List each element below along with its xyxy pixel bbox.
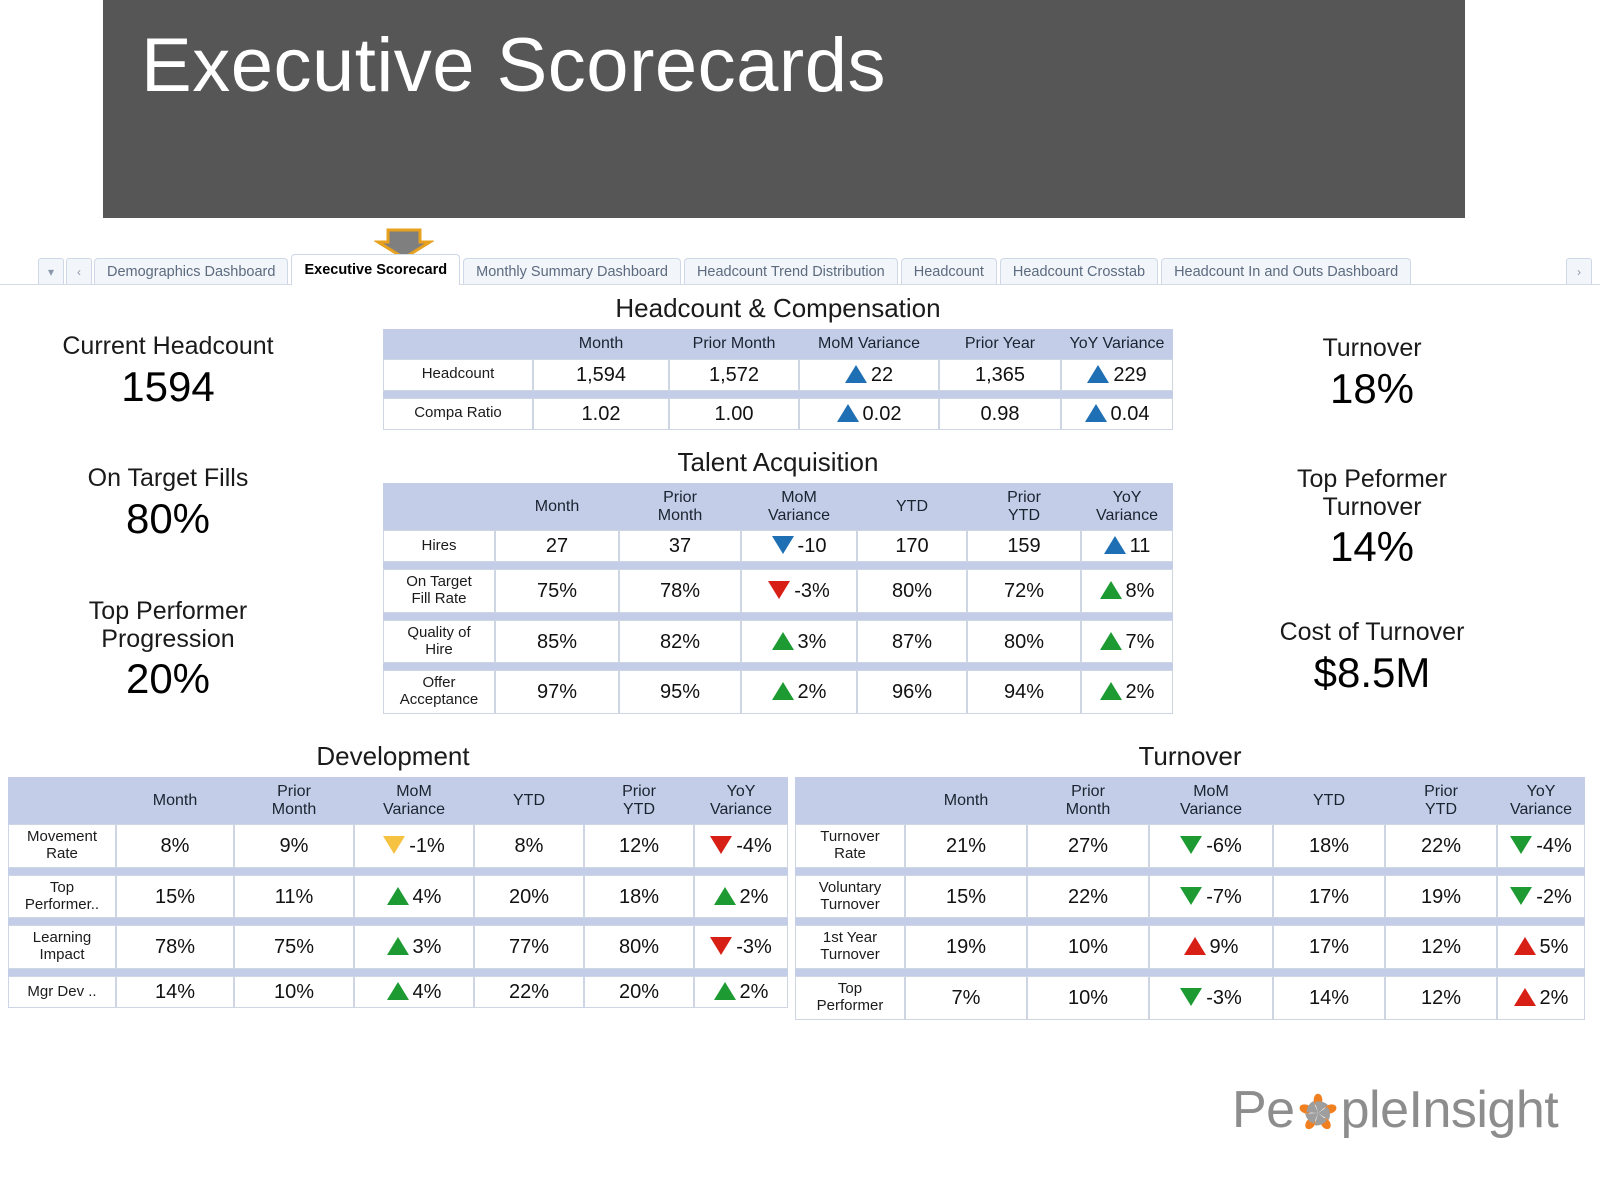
col-ytd: YTD <box>857 483 967 530</box>
triangle-up-icon <box>1100 632 1122 650</box>
row-label: Mgr Dev .. <box>8 976 116 1008</box>
cell-mom-variance: 3% <box>741 620 857 664</box>
col-mom-variance: MoMVariance <box>1149 777 1273 824</box>
kpi-cost-of-turnover-value: $8.5M <box>1222 649 1522 697</box>
table-row: OfferAcceptance97%95%2%96%94%2% <box>383 670 1173 714</box>
cell-ytd: 96% <box>857 670 967 714</box>
kpi-turnover-value: 18% <box>1222 365 1522 413</box>
col-rowlabel <box>383 483 495 530</box>
table-body: TurnoverRate21%27%-6%18%22%-4%VoluntaryT… <box>795 824 1585 1019</box>
triangle-down-icon <box>1180 988 1202 1006</box>
table-row: TurnoverRate21%27%-6%18%22%-4% <box>795 824 1585 868</box>
triangle-down-icon <box>1180 887 1202 905</box>
cell-prior-month: 10% <box>1027 925 1149 969</box>
cell-mom-variance: 2% <box>741 670 857 714</box>
triangle-down-icon <box>383 836 405 854</box>
tab-headcount-trend-distribution[interactable]: Headcount Trend Distribution <box>684 258 898 285</box>
cell-prior-ytd: 80% <box>967 620 1081 664</box>
cell-yoy-variance: 2% <box>694 875 788 919</box>
row-label: VoluntaryTurnover <box>795 875 905 919</box>
cell-prior-ytd: 22% <box>1385 824 1497 868</box>
cell-month: 14% <box>116 976 234 1008</box>
cell-ytd: 18% <box>1273 824 1385 868</box>
cell-ytd: 14% <box>1273 976 1385 1020</box>
section-title-turnover: Turnover <box>795 741 1585 772</box>
table-row: On TargetFill Rate75%78%-3%80%72%8% <box>383 569 1173 613</box>
cell-yoy-variance: -4% <box>1497 824 1585 868</box>
kpi-turnover: Turnover 18% <box>1222 335 1522 413</box>
triangle-up-icon <box>714 887 736 905</box>
cell-ytd: 170 <box>857 530 967 562</box>
table-development: Month PriorMonth MoMVariance YTD PriorYT… <box>8 777 788 1008</box>
cell-mom-variance: 4% <box>354 875 474 919</box>
kpi-top-performer-turnover: Top Peformer Turnover 14% <box>1222 466 1522 571</box>
kpi-top-performer-turnover-label-line1: Top Peformer <box>1222 466 1522 494</box>
row-spacer <box>795 868 1585 875</box>
triangle-up-icon <box>387 937 409 955</box>
col-month: Month <box>116 777 234 824</box>
col-month: Month <box>495 483 619 530</box>
triangle-down-icon <box>710 937 732 955</box>
cell-prior-month: 75% <box>234 925 354 969</box>
cell-prior-ytd: 12% <box>1385 925 1497 969</box>
cell-prior-month: 11% <box>234 875 354 919</box>
cell-month: 78% <box>116 925 234 969</box>
triangle-down-icon <box>768 581 790 599</box>
cell-yoy-variance: 229 <box>1061 359 1173 391</box>
kpi-top-performer-progression: Top Performer Progression 20% <box>18 598 318 703</box>
kpi-top-performer-turnover-label-line2: Turnover <box>1222 494 1522 522</box>
row-label: TopPerformer <box>795 976 905 1020</box>
cell-mom-variance: 3% <box>354 925 474 969</box>
row-label: OfferAcceptance <box>383 670 495 714</box>
cell-prior-ytd: 159 <box>967 530 1081 562</box>
table-header-row: Month PriorMonth MoMVariance YTD PriorYT… <box>383 483 1173 530</box>
cell-prior-ytd: 94% <box>967 670 1081 714</box>
col-yoy-variance: YoYVariance <box>1081 483 1173 530</box>
row-spacer <box>8 969 788 976</box>
cell-month: 1,594 <box>533 359 669 391</box>
col-prior-ytd: PriorYTD <box>1385 777 1497 824</box>
table-turnover: Month PriorMonth MoMVariance YTD PriorYT… <box>795 777 1585 1020</box>
col-mom-variance: MoMVariance <box>354 777 474 824</box>
triangle-up-icon <box>772 632 794 650</box>
col-mom-variance: MoMVariance <box>741 483 857 530</box>
tab-demographics-dashboard[interactable]: Demographics Dashboard <box>94 258 288 285</box>
col-prior-year: Prior Year <box>939 329 1061 359</box>
table-row: Headcount 1,594 1,572 22 1,365 229 <box>383 359 1173 391</box>
triangle-down-icon <box>1510 836 1532 854</box>
table-row: VoluntaryTurnover15%22%-7%17%19%-2% <box>795 875 1585 919</box>
triangle-up-icon <box>1184 937 1206 955</box>
triangle-up-icon <box>1104 536 1126 554</box>
cell-month: 75% <box>495 569 619 613</box>
dashboard-root: Executive Scorecards ▾ ‹ Demographics Da… <box>0 0 1600 1200</box>
cell-prior-year: 1,365 <box>939 359 1061 391</box>
row-label: LearningImpact <box>8 925 116 969</box>
triangle-up-icon <box>714 982 736 1000</box>
col-prior-ytd: PriorYTD <box>967 483 1081 530</box>
triangle-up-icon <box>1514 937 1536 955</box>
row-label: On TargetFill Rate <box>383 569 495 613</box>
cell-prior-month: 9% <box>234 824 354 868</box>
table-row: LearningImpact78%75%3%77%80%-3% <box>8 925 788 969</box>
table-body: MovementRate8%9%-1%8%12%-4%TopPerformer.… <box>8 824 788 1008</box>
cell-month: 19% <box>905 925 1027 969</box>
table-header-row: Month PriorMonth MoMVariance YTD PriorYT… <box>795 777 1585 824</box>
cell-prior-ytd: 12% <box>1385 976 1497 1020</box>
cell-ytd: 87% <box>857 620 967 664</box>
row-label: TopPerformer.. <box>8 875 116 919</box>
row-spacer <box>795 969 1585 976</box>
tab-prev-button[interactable]: ‹ <box>66 258 92 285</box>
peopleinsight-logo: Pe <box>1232 1080 1558 1140</box>
col-prior-month: PriorMonth <box>1027 777 1149 824</box>
cell-mom-variance: 0.02 <box>799 398 939 430</box>
table-row: TopPerformer..15%11%4%20%18%2% <box>8 875 788 919</box>
logo-text-post: pleInsight <box>1341 1080 1559 1140</box>
kpi-cost-of-turnover: Cost of Turnover $8.5M <box>1222 619 1522 697</box>
tab-executive-scorecard[interactable]: Executive Scorecard <box>291 254 460 285</box>
row-spacer <box>383 391 1173 398</box>
cell-mom-variance: -3% <box>1149 976 1273 1020</box>
cell-yoy-variance: 2% <box>694 976 788 1008</box>
cell-month: 27 <box>495 530 619 562</box>
cell-prior-ytd: 80% <box>584 925 694 969</box>
cell-mom-variance: 4% <box>354 976 474 1008</box>
table-header-row: Month PriorMonth MoMVariance YTD PriorYT… <box>8 777 788 824</box>
table-row: Hires2737-1017015911 <box>383 530 1173 562</box>
cell-mom-variance: -3% <box>741 569 857 613</box>
row-label: Quality ofHire <box>383 620 495 664</box>
col-rowlabel <box>8 777 116 824</box>
row-label: MovementRate <box>8 824 116 868</box>
cell-ytd: 20% <box>474 875 584 919</box>
kpi-top-performer-progression-label-line1: Top Performer <box>18 598 318 626</box>
kpi-on-target-fills-value: 80% <box>18 495 318 543</box>
cell-prior-ytd: 19% <box>1385 875 1497 919</box>
row-spacer <box>383 663 1173 670</box>
triangle-up-icon <box>1085 404 1107 422</box>
col-ytd: YTD <box>474 777 584 824</box>
cell-prior-month: 37 <box>619 530 741 562</box>
kpi-current-headcount: Current Headcount 1594 <box>18 333 318 411</box>
cell-yoy-variance: 0.04 <box>1061 398 1173 430</box>
cell-prior-month: 95% <box>619 670 741 714</box>
cell-yoy-variance: 7% <box>1081 620 1173 664</box>
row-spacer <box>383 613 1173 620</box>
cell-mom-variance: -10 <box>741 530 857 562</box>
cell-prior-month: 22% <box>1027 875 1149 919</box>
kpi-top-performer-progression-value: 20% <box>18 655 318 703</box>
col-ytd: YTD <box>1273 777 1385 824</box>
triangle-up-icon <box>387 982 409 1000</box>
triangle-up-icon <box>837 404 859 422</box>
triangle-up-icon <box>1087 365 1109 383</box>
cell-yoy-variance: 2% <box>1497 976 1585 1020</box>
triangle-up-icon <box>1100 682 1122 700</box>
tab-headcount[interactable]: Headcount <box>901 258 997 285</box>
tab-headcount-in-and-outs-dashboard[interactable]: Headcount In and Outs Dashboard <box>1161 258 1411 285</box>
cell-yoy-variance: 2% <box>1081 670 1173 714</box>
table-headcount-compensation: Month Prior Month MoM Variance Prior Yea… <box>383 329 1173 430</box>
cell-mom-variance: 9% <box>1149 925 1273 969</box>
col-rowlabel <box>795 777 905 824</box>
col-prior-month: PriorMonth <box>234 777 354 824</box>
col-yoy-variance: YoY Variance <box>1061 329 1173 359</box>
pinwheel-logo-icon <box>1295 1084 1341 1136</box>
row-spacer <box>8 918 788 925</box>
cell-mom-variance: -7% <box>1149 875 1273 919</box>
cell-prior-year: 0.98 <box>939 398 1061 430</box>
col-month: Month <box>533 329 669 359</box>
section-title-talent-acquisition: Talent Acquisition <box>383 447 1173 478</box>
page-title: Executive Scorecards <box>141 28 886 104</box>
cell-prior-month: 10% <box>234 976 354 1008</box>
row-spacer <box>8 868 788 875</box>
cell-yoy-variance: 5% <box>1497 925 1585 969</box>
tab-monthly-summary-dashboard[interactable]: Monthly Summary Dashboard <box>463 258 681 285</box>
table-talent-acquisition: Month PriorMonth MoMVariance YTD PriorYT… <box>383 483 1173 714</box>
table-row: Compa Ratio 1.02 1.00 0.02 0.98 0.04 <box>383 398 1173 430</box>
cell-mom-variance: -1% <box>354 824 474 868</box>
col-prior-month: Prior Month <box>669 329 799 359</box>
cell-ytd: 17% <box>1273 875 1385 919</box>
triangle-up-icon <box>1100 581 1122 599</box>
cell-ytd: 77% <box>474 925 584 969</box>
section-title-development: Development <box>8 741 778 772</box>
cell-month: 85% <box>495 620 619 664</box>
cell-prior-month: 27% <box>1027 824 1149 868</box>
cell-mom-variance: -6% <box>1149 824 1273 868</box>
logo-text-pre: Pe <box>1232 1080 1295 1140</box>
row-spacer <box>383 562 1173 569</box>
cell-yoy-variance: 11 <box>1081 530 1173 562</box>
clipped-overflow-text <box>700 1040 960 1052</box>
cell-yoy-variance: -4% <box>694 824 788 868</box>
row-label: Compa Ratio <box>383 398 533 430</box>
kpi-top-performer-turnover-value: 14% <box>1222 523 1522 571</box>
section-title-headcount-compensation: Headcount & Compensation <box>383 293 1173 324</box>
cell-month: 15% <box>905 875 1027 919</box>
col-rowlabel <box>383 329 533 359</box>
col-yoy-variance: YoYVariance <box>1497 777 1585 824</box>
cell-prior-month: 82% <box>619 620 741 664</box>
col-yoy-variance: YoYVariance <box>694 777 788 824</box>
cell-month: 21% <box>905 824 1027 868</box>
row-spacer <box>795 918 1585 925</box>
cell-prior-ytd: 72% <box>967 569 1081 613</box>
row-label: Hires <box>383 530 495 562</box>
cell-yoy-variance: 8% <box>1081 569 1173 613</box>
cell-prior-month: 1,572 <box>669 359 799 391</box>
cell-ytd: 17% <box>1273 925 1385 969</box>
cell-ytd: 80% <box>857 569 967 613</box>
cell-ytd: 22% <box>474 976 584 1008</box>
cell-mom-variance: 22 <box>799 359 939 391</box>
triangle-down-icon <box>710 836 732 854</box>
table-row: Mgr Dev ..14%10%4%22%20%2% <box>8 976 788 1008</box>
col-mom-variance: MoM Variance <box>799 329 939 359</box>
row-label: 1st YearTurnover <box>795 925 905 969</box>
tab-headcount-crosstab[interactable]: Headcount Crosstab <box>1000 258 1158 285</box>
kpi-current-headcount-label: Current Headcount <box>18 333 318 361</box>
kpi-cost-of-turnover-label: Cost of Turnover <box>1222 619 1522 647</box>
cell-prior-ytd: 18% <box>584 875 694 919</box>
triangle-down-icon <box>1510 887 1532 905</box>
col-prior-month: PriorMonth <box>619 483 741 530</box>
kpi-on-target-fills: On Target Fills 80% <box>18 465 318 543</box>
tab-dropdown-button[interactable]: ▾ <box>38 258 64 285</box>
triangle-up-icon <box>387 887 409 905</box>
row-label: TurnoverRate <box>795 824 905 868</box>
cell-ytd: 8% <box>474 824 584 868</box>
cell-month: 1.02 <box>533 398 669 430</box>
cell-month: 15% <box>116 875 234 919</box>
kpi-on-target-fills-label: On Target Fills <box>18 465 318 493</box>
table-row: MovementRate8%9%-1%8%12%-4% <box>8 824 788 868</box>
cell-prior-ytd: 20% <box>584 976 694 1008</box>
cell-prior-month: 1.00 <box>669 398 799 430</box>
tab-bar[interactable]: ▾ ‹ Demographics Dashboard Executive Sco… <box>0 255 1600 285</box>
cell-yoy-variance: -2% <box>1497 875 1585 919</box>
table-row: TopPerformer7%10%-3%14%12%2% <box>795 976 1585 1020</box>
triangle-up-icon <box>772 682 794 700</box>
table-body: Hires2737-1017015911On TargetFill Rate75… <box>383 530 1173 714</box>
cell-month: 7% <box>905 976 1027 1020</box>
col-prior-ytd: PriorYTD <box>584 777 694 824</box>
cell-month: 97% <box>495 670 619 714</box>
cell-prior-month: 78% <box>619 569 741 613</box>
cell-month: 8% <box>116 824 234 868</box>
dashboard-canvas: Current Headcount 1594 On Target Fills 8… <box>0 284 1600 1069</box>
row-label: Headcount <box>383 359 533 391</box>
title-banner: Executive Scorecards <box>103 0 1465 218</box>
kpi-top-performer-progression-label-line2: Progression <box>18 626 318 654</box>
cell-prior-ytd: 12% <box>584 824 694 868</box>
cell-prior-month: 10% <box>1027 976 1149 1020</box>
table-row: Quality ofHire85%82%3%87%80%7% <box>383 620 1173 664</box>
triangle-up-icon <box>845 365 867 383</box>
triangle-up-icon <box>1514 988 1536 1006</box>
cell-yoy-variance: -3% <box>694 925 788 969</box>
table-row: 1st YearTurnover19%10%9%17%12%5% <box>795 925 1585 969</box>
triangle-down-icon <box>1180 836 1202 854</box>
kpi-current-headcount-value: 1594 <box>18 363 318 411</box>
triangle-down-icon <box>772 536 794 554</box>
col-month: Month <box>905 777 1027 824</box>
kpi-turnover-label: Turnover <box>1222 335 1522 363</box>
tab-next-button[interactable]: › <box>1566 258 1592 285</box>
table-header-row: Month Prior Month MoM Variance Prior Yea… <box>383 329 1173 359</box>
